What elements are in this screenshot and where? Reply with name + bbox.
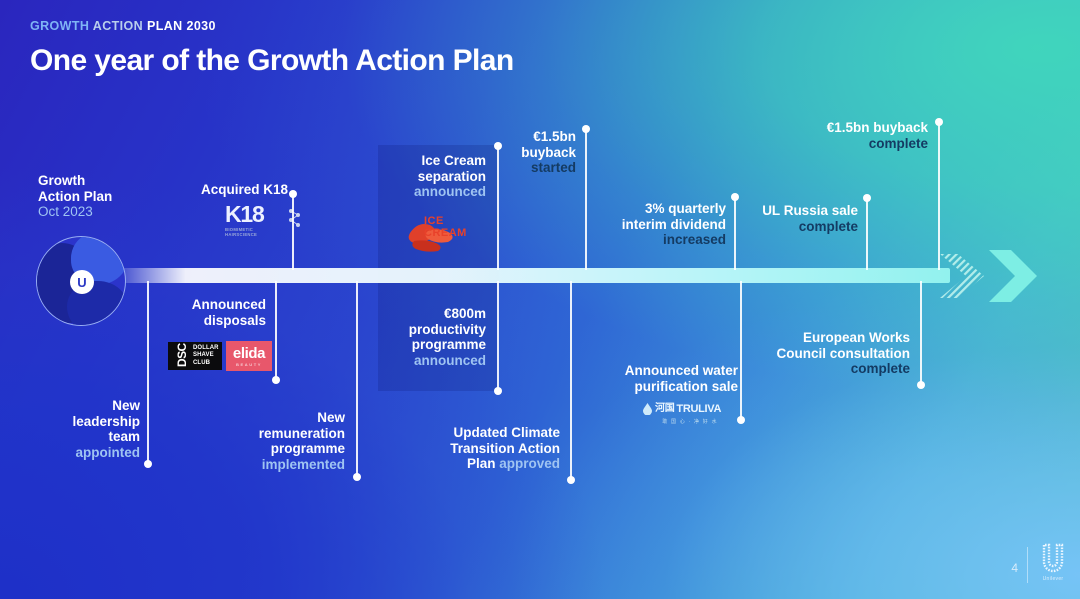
k18-molecule-icon <box>287 208 301 230</box>
milestone-title-line1: 3% quarterly <box>592 201 726 217</box>
connector-line <box>570 281 572 480</box>
eyebrow-label: GROWTH ACTION PLAN 2030 <box>30 19 216 33</box>
connector-dot <box>289 190 297 198</box>
timeline-spine <box>110 268 950 283</box>
eyebrow-word-plan: PLAN 2030 <box>147 19 216 33</box>
connector-line <box>938 124 940 270</box>
milestone-title: Acquired K18 <box>160 182 288 198</box>
milestone-title-line2: separation <box>382 169 486 185</box>
connector-dot <box>582 125 590 133</box>
hub-date: Oct 2023 <box>38 204 168 219</box>
truliva-tagline: 敢 国 心 · 净 好 水 <box>642 418 738 425</box>
milestone-title: UL Russia sale complete <box>742 203 858 234</box>
connector-dot <box>353 473 361 481</box>
connector-line <box>585 131 587 270</box>
hub-title-line2: Action Plan <box>38 189 168 205</box>
hub-u-icon: U <box>70 270 94 294</box>
ice-cream-wordmark: ICECREAM <box>424 216 467 239</box>
milestone-status: announced <box>382 353 486 369</box>
slide-canvas: GROWTH ACTION PLAN 2030 One year of the … <box>0 0 1080 599</box>
connector-line <box>275 281 277 380</box>
connector-line <box>920 281 922 385</box>
milestone-title: €1.5bn buyback complete <box>790 120 928 151</box>
milestone-title: €1.5bn buyback started <box>494 129 576 176</box>
connector-dot <box>567 476 575 484</box>
connector-dot <box>737 416 745 424</box>
milestone-title-line1: Announced water <box>590 363 738 379</box>
unilever-hub-logo: U <box>36 236 126 326</box>
milestone-title-line2: productivity <box>382 322 486 338</box>
milestone-title-line1: New <box>30 398 140 414</box>
connector-dot <box>731 193 739 201</box>
milestone-title: Announced disposals <box>152 297 266 328</box>
milestone-status: approved <box>499 456 560 471</box>
milestone-title: 3% quarterly interim dividend increased <box>592 201 726 248</box>
footer-divider <box>1027 547 1028 583</box>
milestone-status: announced <box>382 184 486 200</box>
milestone-title-line1: Updated Climate <box>420 425 560 441</box>
milestone-title-line2: interim dividend <box>592 217 726 233</box>
elida-beauty-logo: elida BEAUTY <box>226 341 272 371</box>
truliva-wordmark-row: 河国 TRULIVA <box>642 403 738 415</box>
unilever-footer-logo: Unilever <box>1036 543 1070 583</box>
k18-logo: K18 BIOMIMETICHAIRSCIENCE <box>225 203 301 237</box>
milestone-title: Ice Cream separation announced <box>382 153 486 200</box>
dsc-line1: DOLLAR <box>193 345 219 352</box>
milestone-title: European Works Council consultation comp… <box>740 330 910 377</box>
connector-dot <box>863 194 871 202</box>
milestone-status: increased <box>592 232 726 248</box>
milestone-title-line2: Council consultation <box>740 346 910 362</box>
dsc-wordmark: DOLLAR SHAVE CLUB <box>193 345 219 366</box>
milestone-title-line1: UL Russia sale <box>742 203 858 219</box>
milestone-title-line3-text: Plan <box>467 456 496 471</box>
truliva-logo: 河国 TRULIVA 敢 国 心 · 净 好 水 <box>642 403 738 429</box>
eyebrow-word-action: ACTION <box>93 19 143 33</box>
milestone-title-line2: remuneration <box>225 426 345 442</box>
milestone-title: New remuneration programme implemented <box>225 410 345 473</box>
milestone-status: started <box>494 160 576 176</box>
hub-title-line1: Growth <box>38 173 168 189</box>
timeline-arrow-head-icon <box>985 248 1043 304</box>
milestone-title-line1: Announced <box>152 297 266 313</box>
dollar-shave-club-logo: DSC DOLLAR SHAVE CLUB <box>168 342 222 370</box>
truliva-droplet-icon <box>642 403 653 415</box>
milestone-status: complete <box>790 136 928 152</box>
unilever-wordmark: Unilever <box>1043 576 1064 582</box>
dsc-monogram: DSC <box>175 345 189 367</box>
milestone-title-line2: purification sale <box>590 379 738 395</box>
milestone-title-line1: Ice Cream <box>382 153 486 169</box>
milestone-title-line2: Transition Action <box>420 441 560 457</box>
eyebrow-word-growth: GROWTH <box>30 19 89 33</box>
dsc-line3: CLUB <box>193 360 219 367</box>
milestone-title-line2: disposals <box>152 313 266 329</box>
ice-cream-logo: ICECREAM <box>404 213 478 253</box>
connector-dot <box>494 387 502 395</box>
milestone-status: complete <box>742 219 858 235</box>
connector-dot <box>917 381 925 389</box>
milestone-title-line3: programme <box>225 441 345 457</box>
dsc-line2: SHAVE <box>193 352 219 359</box>
milestone-title-line1: European Works <box>740 330 910 346</box>
milestone-status: implemented <box>225 457 345 473</box>
milestone-title-line2: buyback <box>494 145 576 161</box>
truliva-cn-name: 河国 <box>655 404 674 414</box>
milestone-title-line3: programme <box>382 337 486 353</box>
elida-wordmark: elida <box>233 346 265 361</box>
elida-subtitle: BEAUTY <box>236 362 262 367</box>
milestone-title-line3: Plan approved <box>420 456 560 472</box>
connector-line <box>292 196 294 270</box>
milestone-title: Announced water purification sale <box>590 363 738 394</box>
milestone-status: complete <box>740 361 910 377</box>
milestone-status: appointed <box>30 445 140 461</box>
connector-dot <box>935 118 943 126</box>
page-number: 4 <box>1011 561 1018 575</box>
milestone-title-line2: leadership <box>30 414 140 430</box>
milestone-title-line1: New <box>225 410 345 426</box>
connector-line <box>147 281 149 464</box>
connector-dot <box>272 376 280 384</box>
connector-line <box>866 200 868 270</box>
milestone-title-line1: €1.5bn <box>494 129 576 145</box>
milestone-title: New leadership team appointed <box>30 398 140 461</box>
connector-line <box>356 281 358 477</box>
page-title: One year of the Growth Action Plan <box>30 44 514 78</box>
milestone-title: €800m productivity programme announced <box>382 306 486 369</box>
connector-dot <box>144 460 152 468</box>
truliva-name: TRULIVA <box>676 404 721 415</box>
connector-line <box>734 199 736 270</box>
hub-label: Growth Action Plan Oct 2023 <box>38 173 168 219</box>
connector-line <box>497 281 499 391</box>
milestone-title-line3: team <box>30 429 140 445</box>
milestone-title: Updated Climate Transition Action Plan a… <box>420 425 560 472</box>
unilever-u-icon <box>1038 543 1068 575</box>
timeline-arrow-hatch-icon <box>936 252 992 300</box>
milestone-title-line1: €800m <box>382 306 486 322</box>
milestone-title-line1: €1.5bn buyback <box>790 120 928 136</box>
